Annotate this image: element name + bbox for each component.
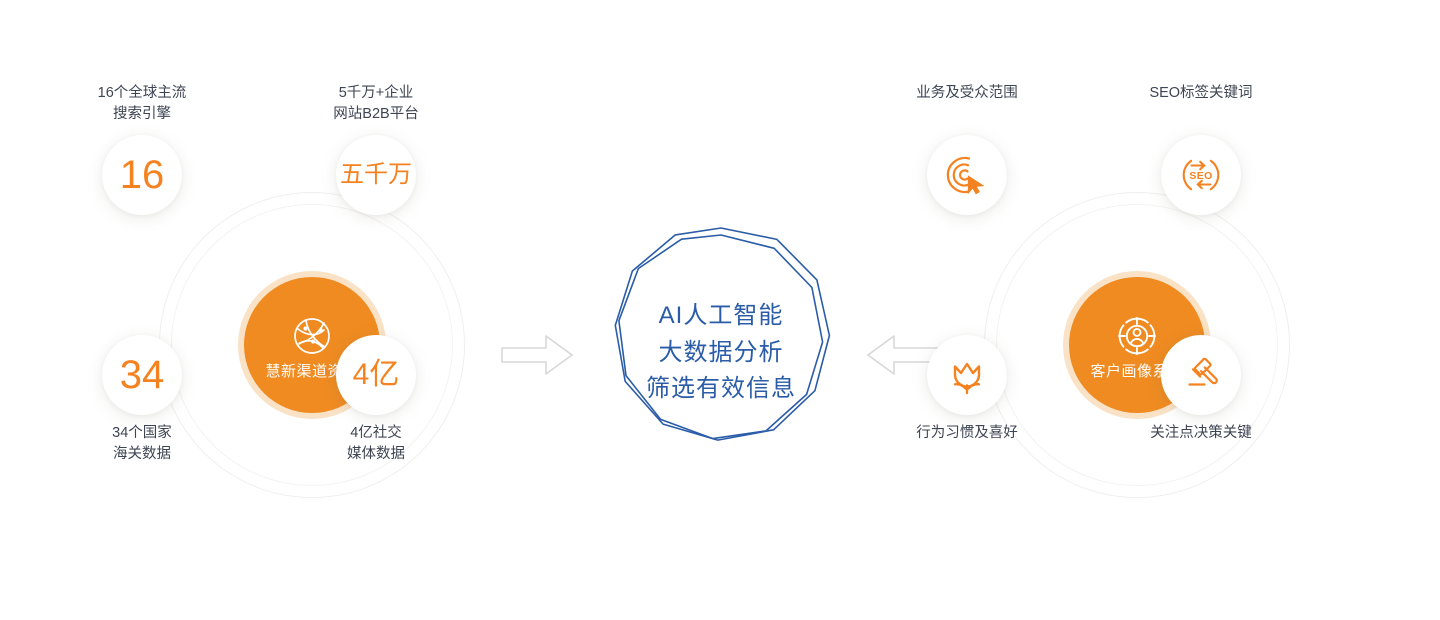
caption-social-media: 4亿社交 媒体数据 xyxy=(266,423,486,465)
caption-decision-factors: 关注点决策关键 xyxy=(1091,423,1311,444)
target-person-icon xyxy=(1113,312,1161,360)
satellite-customs-data[interactable]: 34 xyxy=(102,335,182,415)
ai-core-line-1: AI人工智能 xyxy=(659,301,784,332)
satellite-business-audience[interactable] xyxy=(927,135,1007,215)
satellite-search-engines[interactable]: 16 xyxy=(102,135,182,215)
satellite-behavior-preferences[interactable] xyxy=(927,335,1007,415)
customer-profile-cluster: 客户画像系统 SEO xyxy=(927,135,1347,555)
satellite-b2b-platforms[interactable]: 五千万 xyxy=(336,135,416,215)
satellite-value: 34 xyxy=(120,355,165,395)
globe-network-icon xyxy=(288,312,336,360)
svg-text:SEO: SEO xyxy=(1189,170,1212,182)
ai-core-text-block: AI人工智能 大数据分析 筛选有效信息 xyxy=(590,222,852,484)
caption-customs-data: 34个国家 海关数据 xyxy=(32,423,252,465)
tulip-flower-icon xyxy=(944,352,990,398)
caption-business-audience: 业务及受众范围 xyxy=(857,83,1077,104)
ai-core-line-2: 大数据分析 xyxy=(659,338,784,369)
gavel-icon xyxy=(1178,352,1224,398)
ai-core-line-3: 筛选有效信息 xyxy=(646,374,796,405)
infographic-canvas: 慧新渠道资源 16 五千万 34 4亿 16个全球主流 搜索引擎 5千万+企业 … xyxy=(0,0,1440,620)
caption-search-engines: 16个全球主流 搜索引擎 xyxy=(32,83,252,125)
ai-analysis-core: AI人工智能 大数据分析 筛选有效信息 xyxy=(590,222,852,484)
satellite-value: 五千万 xyxy=(340,163,412,187)
satellite-value: 4亿 xyxy=(353,360,400,390)
satellite-social-media[interactable]: 4亿 xyxy=(336,335,416,415)
caption-seo-keywords: SEO标签关键词 xyxy=(1091,83,1311,104)
satellite-seo-keywords[interactable]: SEO xyxy=(1161,135,1241,215)
caption-behavior-preferences: 行为习惯及喜好 xyxy=(857,423,1077,444)
satellite-value: 16 xyxy=(120,155,165,195)
channel-resources-cluster: 慧新渠道资源 16 五千万 34 4亿 16个全球主流 搜索引擎 5千万+企业 … xyxy=(102,135,522,555)
tap-cursor-icon xyxy=(944,152,990,198)
satellite-decision-factors[interactable] xyxy=(1161,335,1241,415)
seo-refresh-icon: SEO xyxy=(1178,152,1224,198)
caption-b2b-platforms: 5千万+企业 网站B2B平台 xyxy=(266,83,486,125)
arrow-right-icon xyxy=(500,333,574,377)
